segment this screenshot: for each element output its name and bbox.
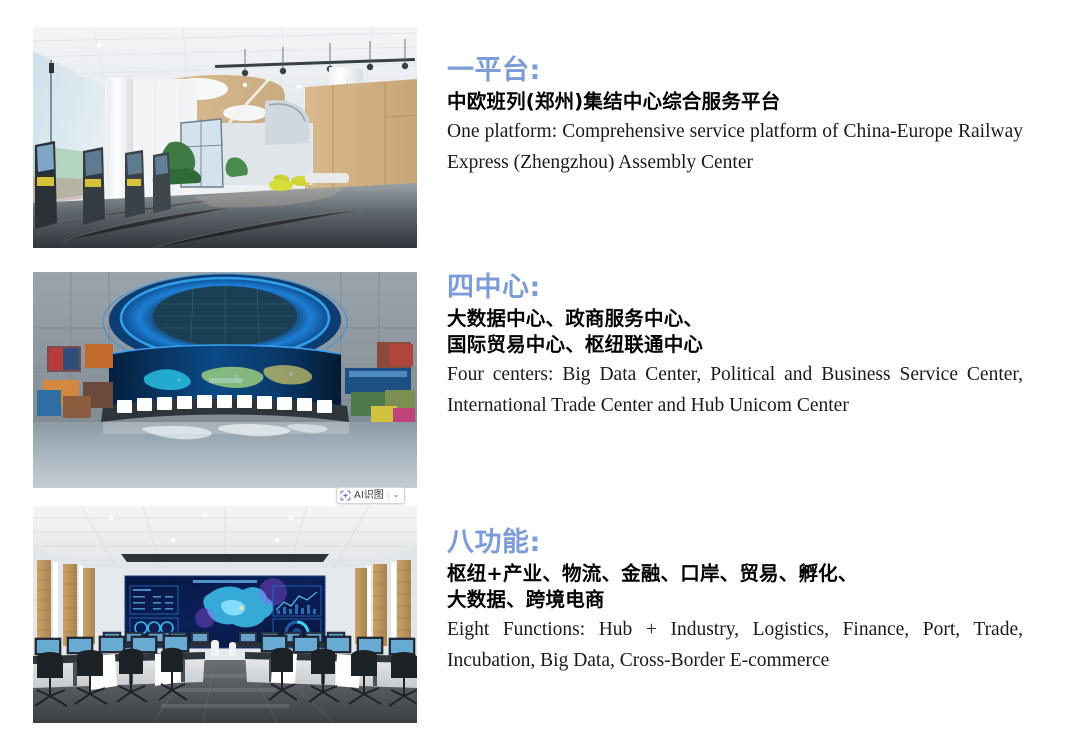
section-3-body: Eight Functions: Hub + Industry, Logisti… [447,614,1023,676]
section-3-subtitle-line-1: 枢纽+产业、物流、金融、口岸、贸易、孵化、 [447,561,1023,587]
ai-image-recognition-badge[interactable]: AI识图 ⌄ [336,487,405,504]
section-2-heading: 四中心: [447,272,1023,304]
section-2-body: Four centers: Big Data Center, Political… [447,359,1023,421]
chevron-down-icon[interactable]: ⌄ [393,491,400,499]
section-2-text: 四中心: 大数据中心、政商服务中心、 国际贸易中心、枢纽联通中心 Four ce… [447,272,1023,421]
section-3-heading: 八功能: [447,527,1023,559]
page-root: 一平台: 中欧班列(郑州)集结中心综合服务平台 One platform: Co… [0,0,1082,751]
ai-scan-icon [340,490,351,501]
section-1-heading: 一平台: [447,55,1023,87]
command-center-photo[interactable] [33,506,417,723]
section-3-subtitle-line-2: 大数据、跨境电商 [447,587,1023,613]
exhibition-hall-photo[interactable] [33,272,417,488]
lobby-interior-photo[interactable] [33,27,417,248]
ai-badge-divider [388,491,389,501]
section-3-text: 八功能: 枢纽+产业、物流、金融、口岸、贸易、孵化、 大数据、跨境电商 Eigh… [447,527,1023,676]
section-1-text: 一平台: 中欧班列(郑州)集结中心综合服务平台 One platform: Co… [447,55,1023,178]
section-2-subtitle-line-2: 国际贸易中心、枢纽联通中心 [447,332,1023,358]
section-1-body: One platform: Comprehensive service plat… [447,116,1023,178]
ai-badge-label: AI识图 [354,490,384,501]
section-1-subtitle-line-1: 中欧班列(郑州)集结中心综合服务平台 [447,89,1023,115]
section-2-subtitle-line-1: 大数据中心、政商服务中心、 [447,306,1023,332]
